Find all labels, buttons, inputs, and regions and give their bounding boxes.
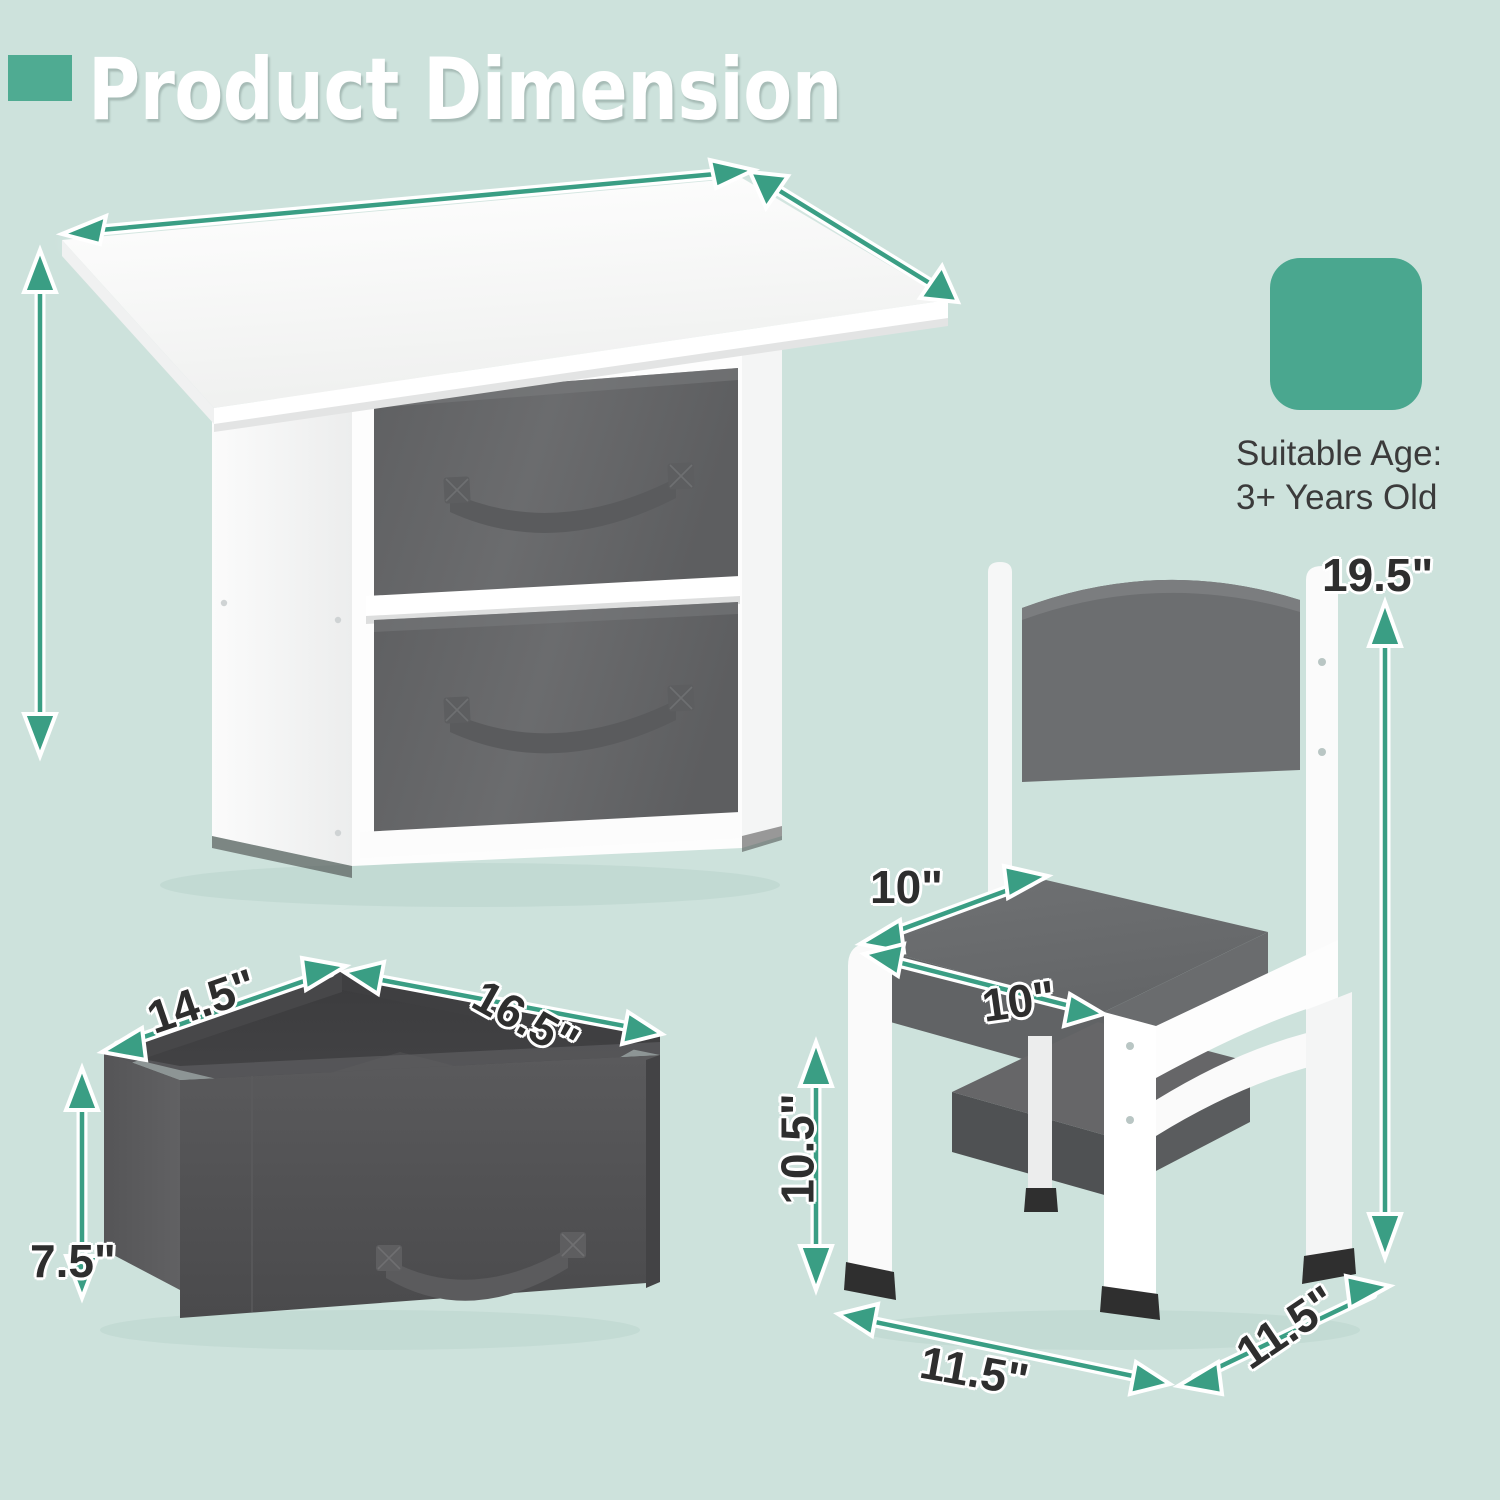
table-depth-arrow	[750, 172, 958, 302]
baby-icon-tile	[1270, 258, 1422, 410]
product-illustrations	[0, 0, 1500, 1500]
chair-seat-height-label: 10.5"	[771, 1093, 825, 1204]
bin-width-label: 14.5"	[140, 957, 263, 1044]
chair-seat-width-label: 10"	[979, 969, 1059, 1033]
bin-depth-label: 16.5"	[464, 968, 588, 1069]
page-title: Product Dimension	[88, 38, 842, 142]
chair-height-label: 19.5"	[1322, 548, 1433, 602]
suitable-age-caption: Suitable Age: 3+ Years Old	[1236, 432, 1486, 520]
table-height-arrow	[24, 250, 56, 756]
bin-height-label: 7.5"	[30, 1234, 116, 1288]
kids-table-illustration	[62, 178, 948, 907]
chair-base-depth-label: 11.5"	[1226, 1274, 1346, 1380]
suitable-age-badge: Suitable Age: 3+ Years Old	[1236, 258, 1486, 520]
title-marker-square	[8, 55, 72, 101]
chair-height-arrow	[1369, 602, 1401, 1258]
kids-chair-illustration	[844, 562, 1360, 1350]
table-width-arrow	[62, 160, 754, 244]
chair-seat-depth-label: 10"	[870, 860, 943, 914]
chair-base-width-label: 11.5"	[916, 1335, 1033, 1407]
dimension-arrows	[24, 160, 1401, 1394]
page-header: Product Dimension	[0, 38, 1000, 143]
infographic-canvas: Product Dimension	[0, 0, 1500, 1500]
